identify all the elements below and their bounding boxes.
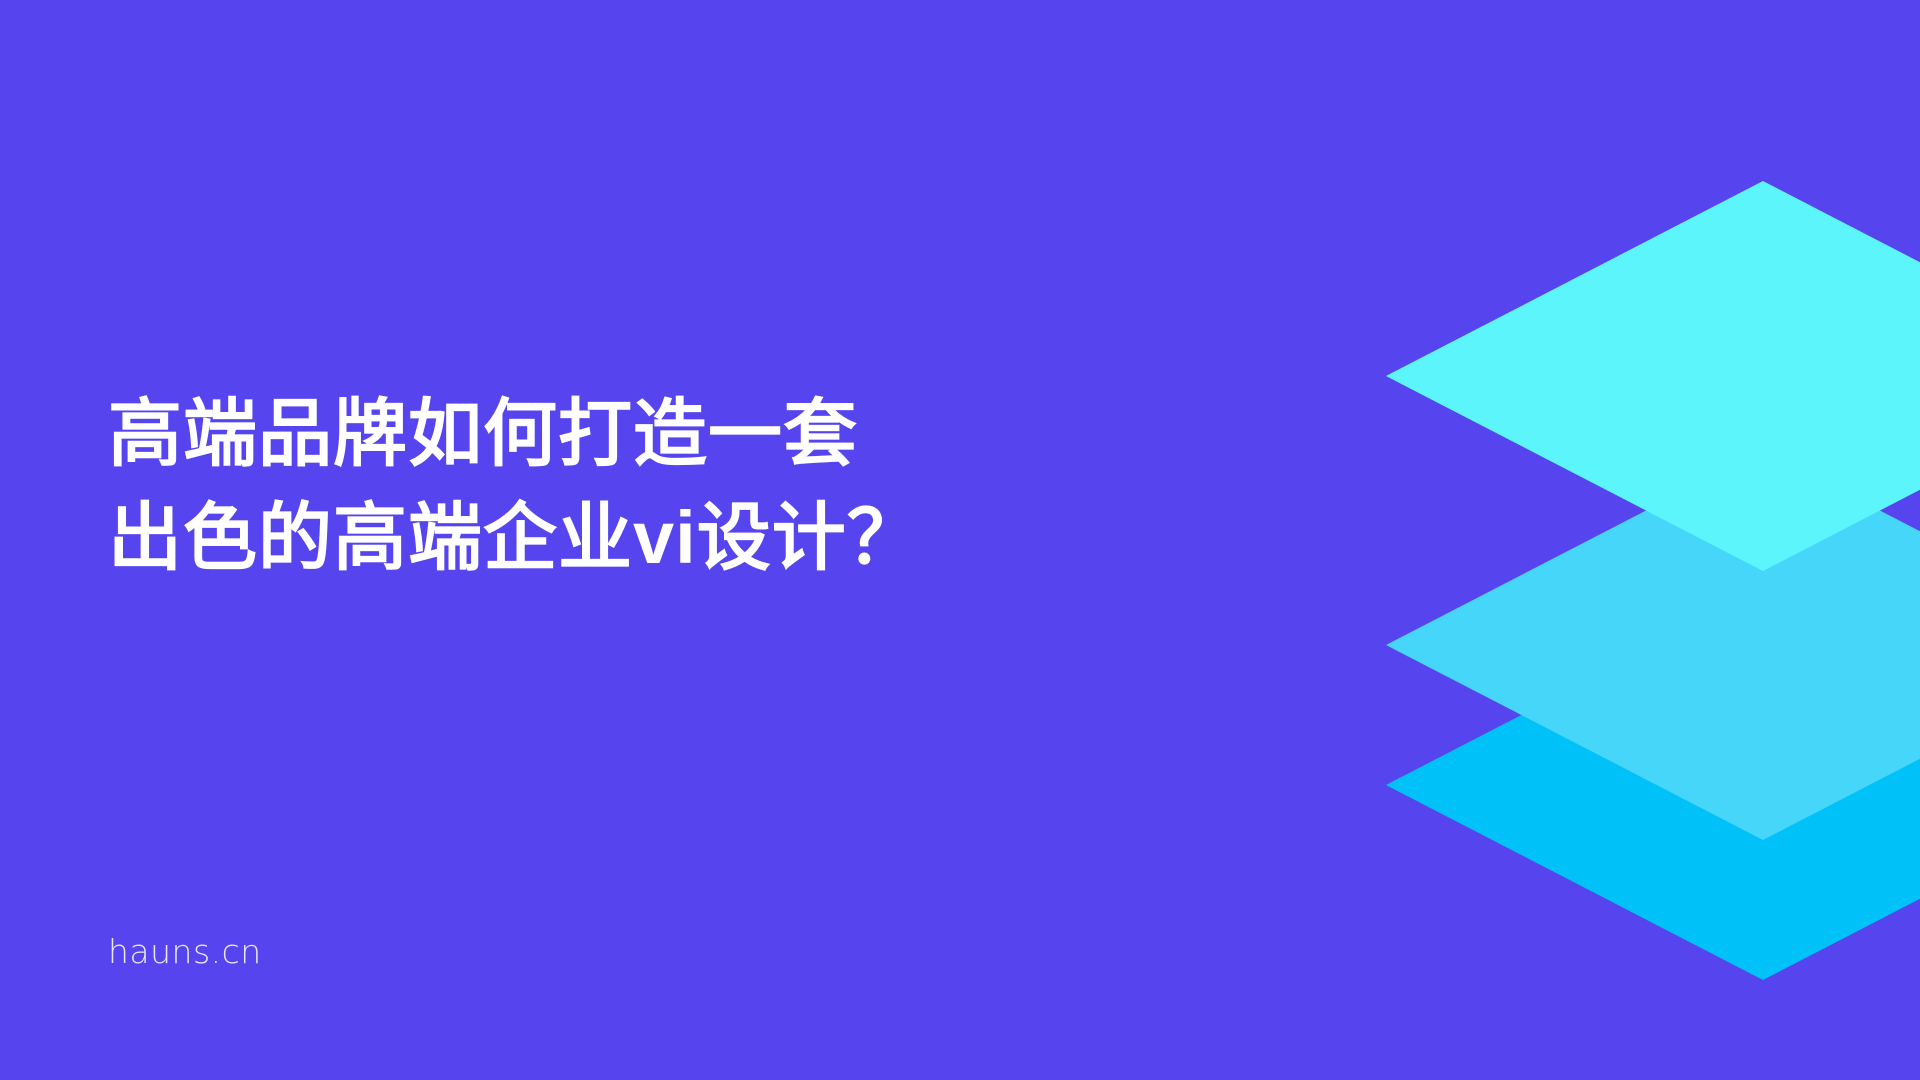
stacked-layers-svg — [1140, 120, 1920, 980]
headline-line-2: 出色的高端企业vi设计？ — [108, 486, 1088, 590]
site-watermark: hauns.cn — [108, 932, 262, 971]
top-layer-shape — [1386, 181, 1920, 571]
promo-banner: 高端品牌如何打造一套 出色的高端企业vi设计？ hauns.cn — [0, 0, 1920, 1080]
stacked-layers-graphic — [1140, 120, 1920, 980]
headline-block: 高端品牌如何打造一套 出色的高端企业vi设计？ — [108, 382, 1088, 590]
headline-line-1: 高端品牌如何打造一套 — [108, 382, 1088, 486]
